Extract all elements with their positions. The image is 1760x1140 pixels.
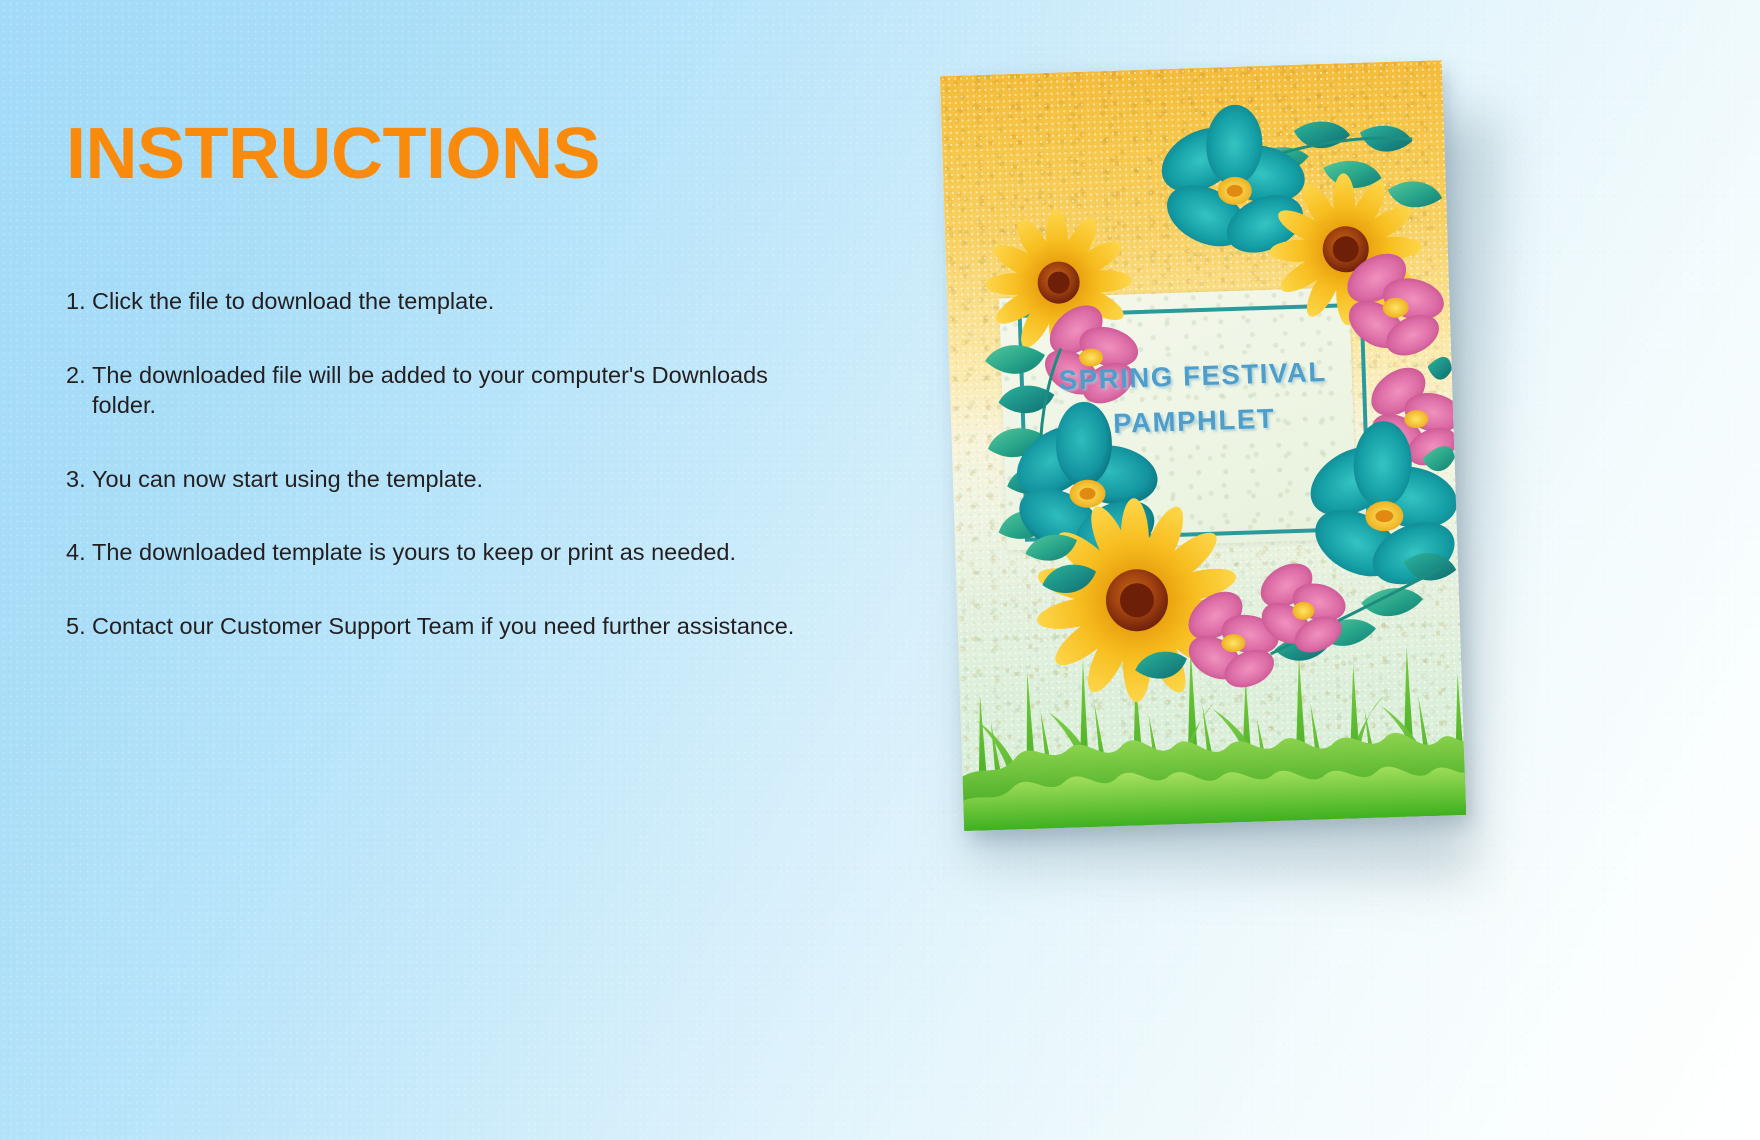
list-item: 1. Click the file to download the templa… [66, 286, 856, 317]
step-text: Contact our Customer Support Team if you… [92, 611, 837, 642]
list-item: 5. Contact our Customer Support Team if … [66, 611, 856, 642]
step-text: The downloaded template is yours to keep… [92, 537, 837, 568]
page-title: INSTRUCTIONS [66, 118, 896, 190]
template-preview[interactable]: SPRING FESTIVAL PAMPHLET [946, 58, 1506, 888]
step-number: 4. [66, 537, 92, 568]
step-text: You can now start using the template. [92, 464, 837, 495]
step-number: 1. [66, 286, 92, 317]
step-number: 2. [66, 360, 92, 391]
list-item: 4. The downloaded template is yours to k… [66, 537, 856, 568]
instruction-steps-list: 1. Click the file to download the templa… [66, 286, 896, 641]
grass-illustration [953, 587, 1466, 831]
instructions-panel: INSTRUCTIONS 1. Click the file to downlo… [66, 118, 896, 641]
step-text: The downloaded file will be added to you… [92, 360, 837, 421]
preview-title: SPRING FESTIVAL PAMPHLET [1023, 349, 1364, 449]
step-number: 5. [66, 611, 92, 642]
pamphlet-sheet[interactable]: SPRING FESTIVAL PAMPHLET [940, 60, 1466, 831]
list-item: 2. The downloaded file will be added to … [66, 360, 856, 421]
list-item: 3. You can now start using the template. [66, 464, 856, 495]
slide-canvas: INSTRUCTIONS 1. Click the file to downlo… [0, 0, 1760, 1140]
step-text: Click the file to download the template. [92, 286, 837, 317]
step-number: 3. [66, 464, 92, 495]
